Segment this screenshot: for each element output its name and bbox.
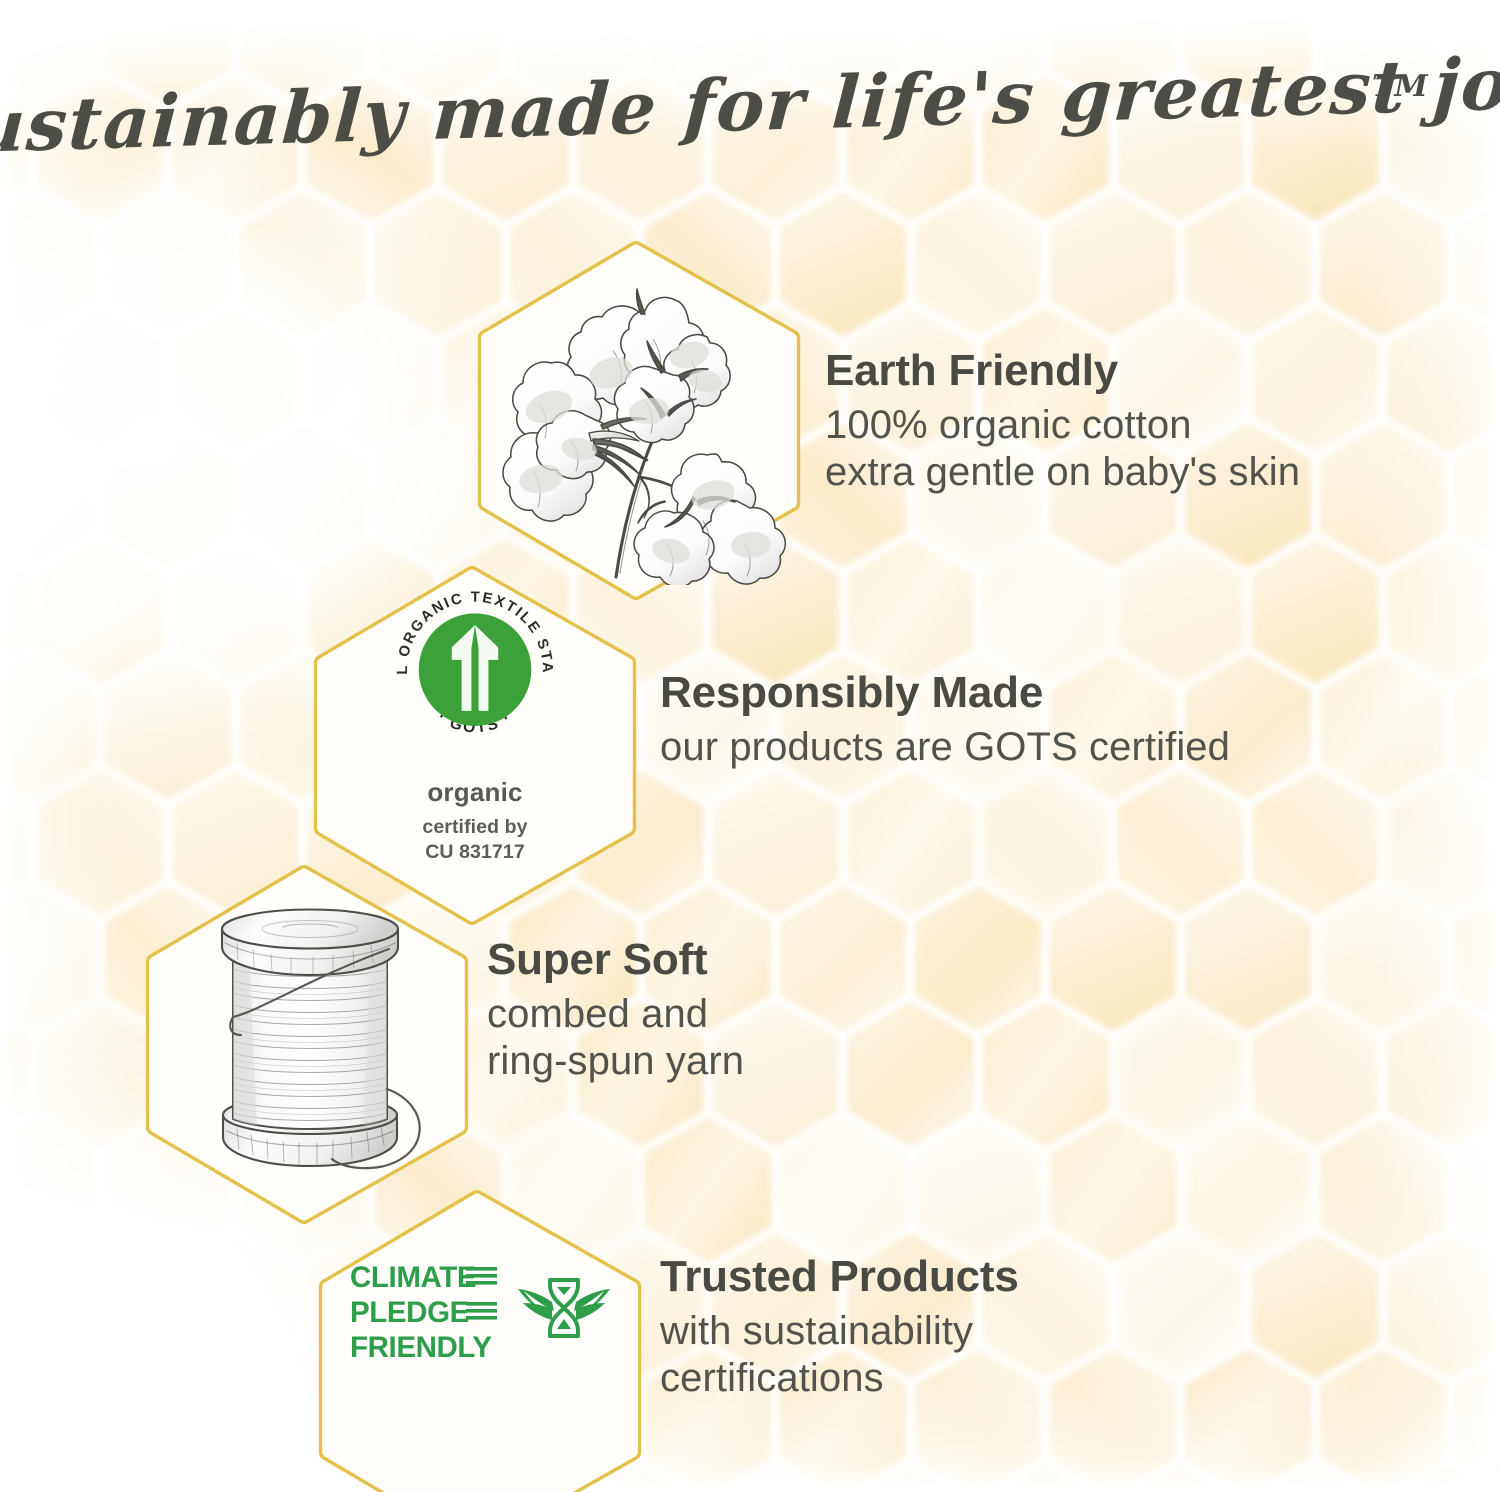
climate-pledge-friendly-logo-icon: CLIMATE PLEDGE FRIENDLY <box>352 1252 610 1372</box>
gots-label-organic: organic <box>427 777 522 808</box>
feature-title: Earth Friendly <box>825 348 1300 395</box>
feature-line: our products are GOTS certified <box>660 724 1230 771</box>
gots-certification-badge-icon: GLOBAL ORGANIC TEXTILE STANDARD · GOTS ·… <box>345 575 605 865</box>
infographic-page: sustainably made for life's greatest joy… <box>0 0 1500 1492</box>
gots-label-code: CU 831717 <box>425 841 525 865</box>
cpf-line-1: CLIMATE <box>350 1261 476 1294</box>
gots-label-certified-by: certified by <box>422 816 527 840</box>
winged-hourglass-icon <box>516 1274 612 1350</box>
feature-text-responsibly-made: Responsibly Made our products are GOTS c… <box>660 670 1230 771</box>
feature-text-super-soft: Super Soft combed and ring-spun yarn <box>487 937 744 1085</box>
feature-line: combed and <box>487 991 744 1038</box>
thread-spool-sketch-icon <box>160 878 460 1213</box>
feature-title: Trusted Products <box>660 1254 1019 1301</box>
feature-text-earth-friendly: Earth Friendly 100% organic cotton extra… <box>825 348 1300 496</box>
feature-line: certifications <box>660 1355 1019 1402</box>
headline-text: sustainably made for life's greatest joy <box>0 44 1500 164</box>
feature-line: extra gentle on baby's skin <box>825 449 1300 496</box>
feature-line: ring-spun yarn <box>487 1038 744 1085</box>
climate-pledge-wordmark: CLIMATE PLEDGE FRIENDLY <box>350 1260 498 1364</box>
gots-green-disc <box>419 613 532 726</box>
feature-line: 100% organic cotton <box>825 402 1300 449</box>
gots-seal: GLOBAL ORGANIC TEXTILE STANDARD · GOTS · <box>369 575 581 764</box>
trademark-symbol: TM <box>1372 69 1428 104</box>
cotton-plant-sketch-icon <box>484 250 794 590</box>
cpf-line-3: FRIENDLY <box>350 1331 492 1364</box>
cpf-line-2: PLEDGE <box>350 1296 469 1329</box>
page-headline: sustainably made for life's greatest joy… <box>0 44 1500 164</box>
feature-text-trusted-products: Trusted Products with sustainability cer… <box>660 1254 1019 1402</box>
feature-title: Responsibly Made <box>660 670 1230 717</box>
feature-title: Super Soft <box>487 937 744 984</box>
feature-line: with sustainability <box>660 1308 1019 1355</box>
